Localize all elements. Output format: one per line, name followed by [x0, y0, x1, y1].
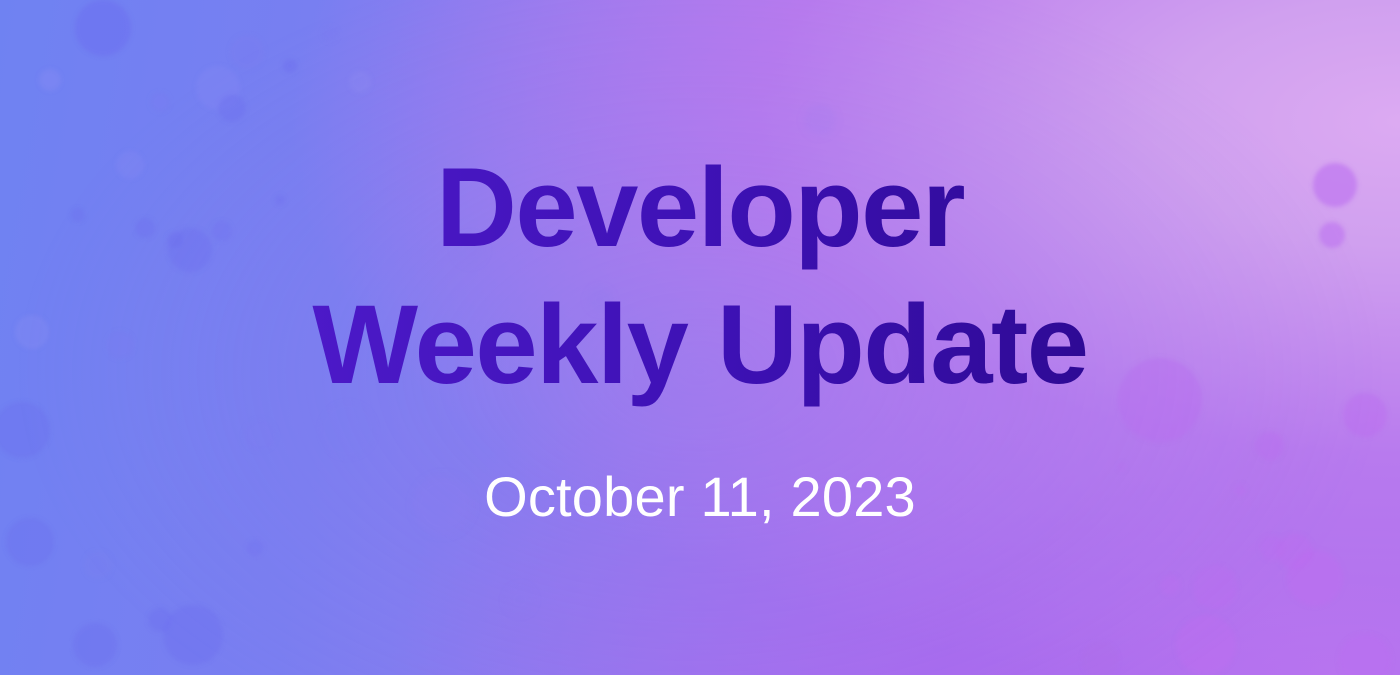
title-line-weekly-update: Weekly Update: [0, 277, 1400, 414]
banner-title: Developer Weekly Update: [0, 140, 1400, 413]
title-line-developer: Developer: [0, 140, 1400, 277]
banner-date: October 11, 2023: [0, 469, 1400, 525]
banner-content: Developer Weekly Update October 11, 2023: [0, 0, 1400, 675]
developer-weekly-update-banner: Developer Weekly Update October 11, 2023: [0, 0, 1400, 675]
